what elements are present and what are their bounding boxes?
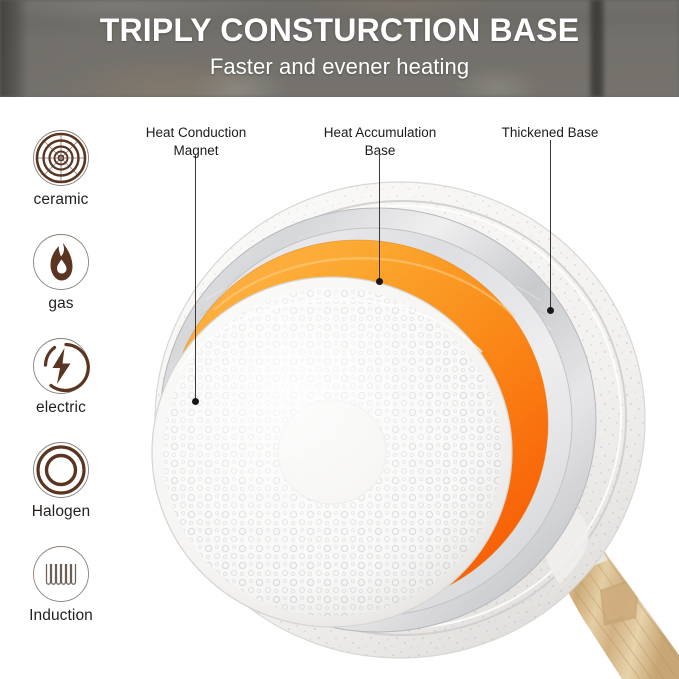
electric-bolt-icon (32, 337, 90, 395)
cooktop-label-gas: gas (0, 296, 122, 312)
cooktop-label-electric: electric (0, 400, 122, 416)
gas-flame-icon (32, 233, 90, 291)
cooktop-item-induction[interactable]: Induction (0, 545, 122, 624)
leader-line-magnet (195, 155, 196, 402)
cooktop-label-ceramic: ceramic (0, 192, 122, 208)
cooktop-item-halogen[interactable]: Halogen (0, 441, 122, 520)
callout-thickened-base: Thickened Base (485, 124, 615, 142)
halogen-rings-icon (32, 441, 90, 499)
cooktop-item-ceramic[interactable]: ceramic (0, 129, 122, 208)
induction-coil-icon (32, 545, 90, 603)
leader-dot-heat-accumulation (376, 278, 383, 285)
cooktop-item-gas[interactable]: gas (0, 233, 122, 312)
cooktop-item-electric[interactable]: electric (0, 337, 122, 416)
callout-heat-accumulation-base: Heat Accumulation Base (312, 124, 448, 159)
magnet-layer (152, 277, 512, 627)
ceramic-cooktop-icon (32, 129, 90, 187)
cooktop-label-halogen: Halogen (0, 504, 122, 520)
leader-line-heat-accumulation (379, 155, 380, 281)
leader-dot-magnet (192, 398, 199, 405)
leader-dot-thickened-base (547, 307, 554, 314)
callout-heat-conduction-magnet: Heat Conduction Magnet (134, 124, 258, 159)
cooktop-label-induction: Induction (0, 608, 122, 624)
leader-line-thickened-base (550, 140, 551, 310)
product-infographic: TRIPLY CONSTURCTION BASE Faster and even… (0, 0, 679, 679)
